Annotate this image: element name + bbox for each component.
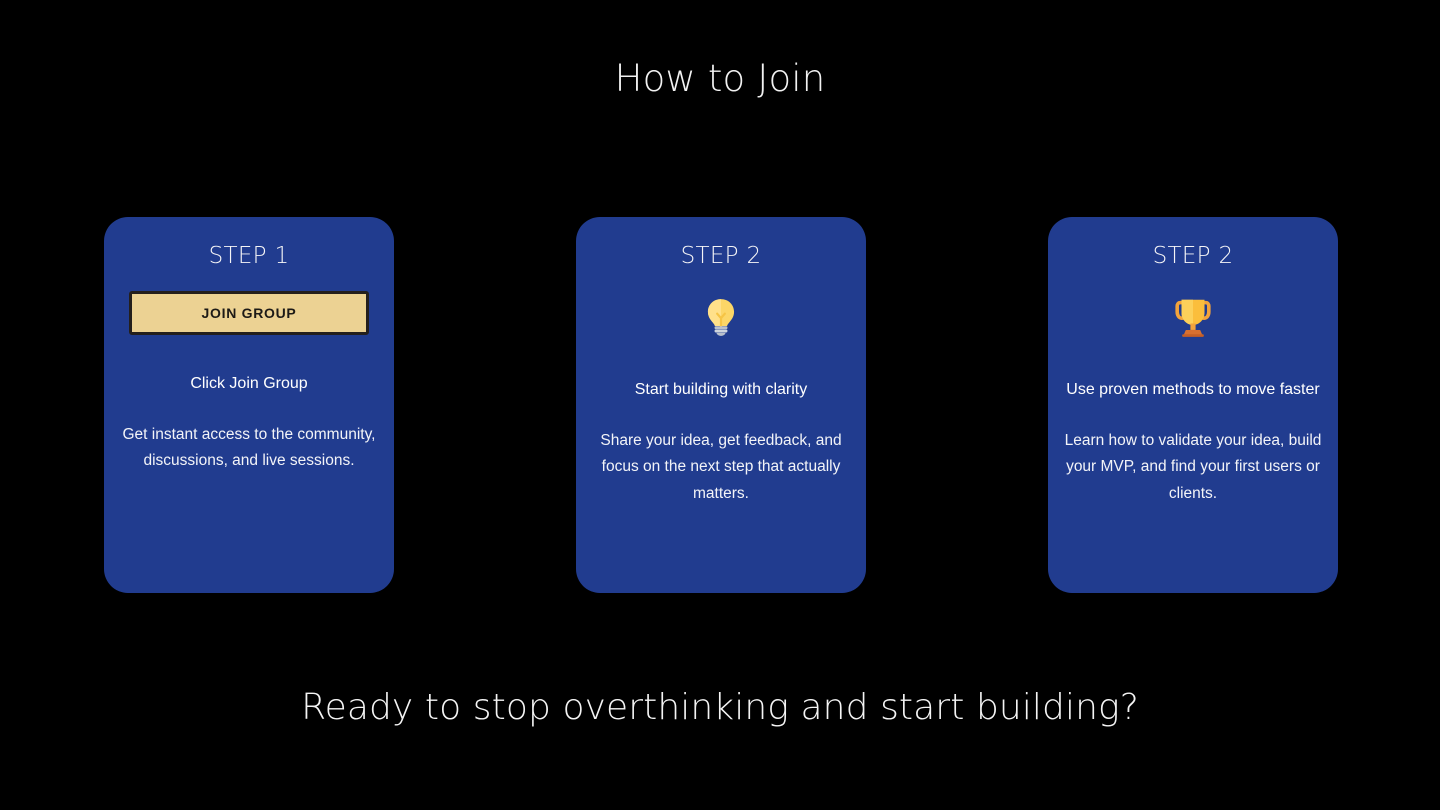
step-card-3[interactable]: STEP 2 Use proven methods to move faster… [1048,217,1338,593]
steps-card-row: STEP 1 JOIN GROUP Click Join Group Get i… [104,217,1338,593]
step-card-1-body: Get instant access to the community, dis… [118,422,380,475]
step-card-2[interactable]: STEP 2 Start building with clarity Share… [576,217,866,593]
page-title: How to Join [0,58,1440,101]
step-card-1-headline: Click Join Group [118,374,380,394]
step-card-2-headline: Start building with clarity [590,380,852,400]
step-card-3-title: STEP 2 [1153,243,1234,271]
trophy-icon [1170,291,1216,343]
slide-root: How to Join STEP 1 JOIN GROUP Click Join… [0,0,1440,810]
footer-cta-text: Ready to stop overthinking and start bui… [0,686,1440,729]
step-card-1[interactable]: STEP 1 JOIN GROUP Click Join Group Get i… [104,217,394,593]
join-group-button[interactable]: JOIN GROUP [129,291,369,335]
step-card-1-title: STEP 1 [209,243,290,271]
step-card-3-body: Learn how to validate your idea, build y… [1062,428,1324,508]
step-card-2-body: Share your idea, get feedback, and focus… [590,428,852,508]
lightbulb-icon [699,291,743,343]
step-card-2-title: STEP 2 [681,243,762,271]
step-card-3-headline: Use proven methods to move faster [1062,380,1324,400]
